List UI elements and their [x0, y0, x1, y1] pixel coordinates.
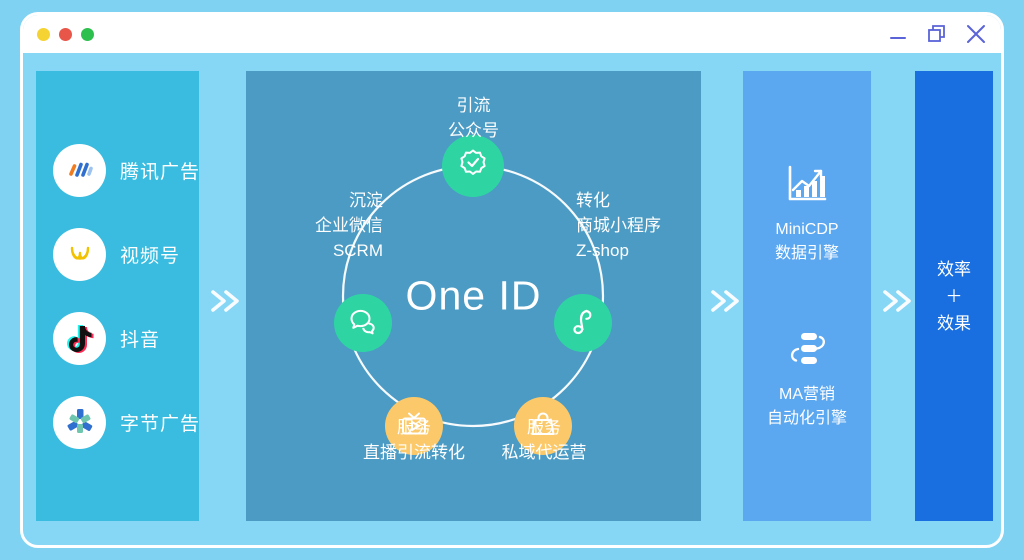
chat-bubble-icon: [347, 305, 379, 342]
app-root: 腾讯广告 视频号: [0, 0, 1024, 560]
engine-list: MiniCDP 数据引擎: [743, 71, 871, 521]
tencent-ads-icon: [53, 144, 106, 197]
outcome-line-plus: ＋: [946, 283, 963, 310]
arrow-platforms-to-oneid: [209, 286, 243, 316]
oneid-node-right[interactable]: [554, 294, 612, 352]
platform-label: 视频号: [120, 241, 180, 268]
platform-label: 腾讯广告: [120, 157, 200, 184]
panel-engines: MiniCDP 数据引擎: [743, 71, 871, 521]
red-dot[interactable]: [59, 28, 72, 41]
platform-item-bytedance-ads[interactable]: 字节广告: [53, 396, 199, 449]
platform-item-douyin[interactable]: 抖音: [53, 312, 199, 365]
restore-icon[interactable]: [926, 23, 948, 45]
window-controls: [887, 23, 987, 45]
caption-line: 公众号: [448, 118, 499, 143]
panel-oneid: 引流 公众号 沉淀 企业微信: [246, 71, 701, 521]
caption-line: 私域代运营: [464, 440, 624, 465]
outcome-block: 效率 ＋ 效果: [915, 71, 993, 521]
loop-note-icon: [567, 305, 599, 342]
caption-line: 转化: [576, 188, 661, 213]
oneid-center-label: One ID: [406, 273, 542, 320]
wechat-channels-icon: [53, 228, 106, 281]
arrow-engines-to-outcome: [881, 286, 915, 316]
oneid-caption-bottom-right: 服务 私域代运营: [464, 415, 624, 465]
douyin-icon: [53, 312, 106, 365]
titlebar: [23, 15, 1001, 53]
outcome-line-effect: 效果: [937, 310, 971, 337]
green-dot[interactable]: [81, 28, 94, 41]
engine-label: MiniCDP 数据引擎: [775, 218, 839, 266]
app-window: 腾讯广告 视频号: [20, 12, 1004, 548]
minimize-icon[interactable]: [887, 23, 909, 45]
engine-item-ma[interactable]: MA营销 自动化引擎: [767, 326, 847, 431]
diagram-content: 腾讯广告 视频号: [23, 53, 1001, 548]
oneid-node-left[interactable]: [334, 294, 392, 352]
caption-line: Z-shop: [576, 238, 661, 263]
platform-list: 腾讯广告 视频号: [36, 71, 199, 521]
bytedance-ads-icon: [53, 396, 106, 449]
yellow-dot[interactable]: [37, 28, 50, 41]
engine-label: MA营销 自动化引擎: [767, 383, 847, 431]
panel-outcome: 效率 ＋ 效果: [915, 71, 993, 521]
engine-line: 自动化引擎: [767, 407, 847, 431]
panel-platforms: 腾讯广告 视频号: [36, 71, 199, 521]
engine-item-minicdp[interactable]: MiniCDP 数据引擎: [775, 161, 839, 266]
oneid-node-top[interactable]: [442, 135, 504, 197]
outcome-line-efficiency: 效率: [937, 256, 971, 283]
oneid-ring: 引流 公众号 沉淀 企业微信: [246, 71, 701, 521]
platform-label: 抖音: [120, 325, 160, 352]
caption-line: 企业微信: [315, 213, 383, 238]
automation-flow-icon: [784, 326, 830, 372]
engine-line: 数据引擎: [775, 242, 839, 266]
engine-line: MA营销: [767, 383, 847, 407]
caption-line: 引流: [448, 93, 499, 118]
platform-item-wechat-channels[interactable]: 视频号: [53, 228, 199, 281]
window-dots: [37, 28, 94, 41]
caption-line: 沉淀: [315, 188, 383, 213]
platform-item-tencent-ads[interactable]: 腾讯广告: [53, 144, 199, 197]
oneid-caption-right: 转化 商城小程序 Z-shop: [576, 188, 661, 263]
bar-chart-growth-icon: [784, 161, 830, 207]
platform-label: 字节广告: [120, 409, 200, 436]
close-icon[interactable]: [965, 23, 987, 45]
caption-line: SCRM: [315, 238, 383, 263]
oneid-caption-top: 引流 公众号: [448, 93, 499, 143]
oneid-caption-left: 沉淀 企业微信 SCRM: [315, 188, 383, 263]
arrow-oneid-to-engines: [709, 286, 743, 316]
caption-line: 服务: [464, 415, 624, 440]
caption-line: 商城小程序: [576, 213, 661, 238]
verified-badge-icon: [456, 147, 490, 186]
engine-line: MiniCDP: [775, 218, 839, 242]
